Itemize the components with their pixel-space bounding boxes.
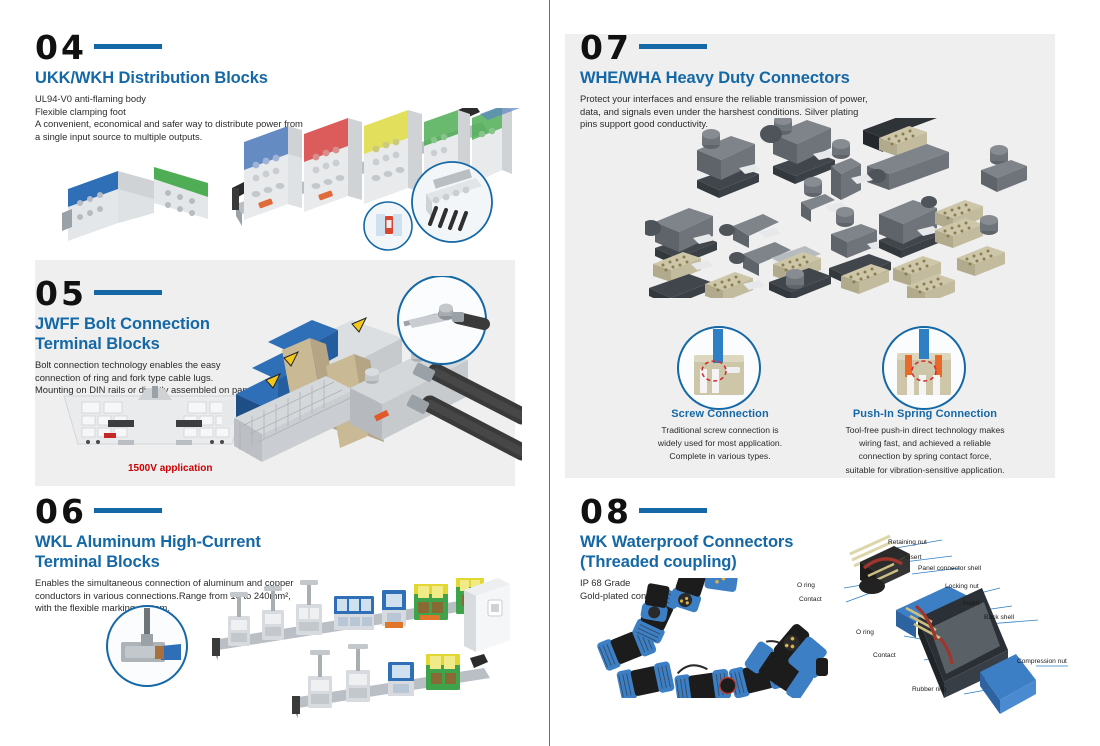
section-08: 08 WK Waterproof Connectors (Threaded co… — [550, 486, 1100, 746]
accent-rule — [639, 44, 707, 49]
catalog-page-spread: 04 UKK/WKH Distribution Blocks UL94-V0 a… — [0, 0, 1100, 746]
section-04: 04 UKK/WKH Distribution Blocks UL94-V0 a… — [0, 0, 549, 258]
caption-title: Push-In Spring Connection — [802, 408, 1048, 420]
section-number: 08 — [580, 495, 632, 528]
callout-label: Contact — [873, 652, 896, 659]
section-07-number-row: 07 — [580, 30, 910, 64]
callout-label: Insert — [905, 554, 922, 561]
jwff-product-image — [222, 276, 522, 476]
wk-exploded-diagram-image — [800, 516, 1100, 716]
accent-rule — [94, 508, 162, 513]
push-in-spring-connection-circle — [881, 325, 967, 411]
section-06-number-row: 06 — [35, 494, 325, 528]
section-number: 06 — [35, 495, 87, 528]
callout-label: Rubber ring — [912, 686, 946, 693]
ukk-wkh-product-image — [230, 108, 530, 258]
callout-label: Panel connector shell — [918, 565, 981, 572]
left-page: 04 UKK/WKH Distribution Blocks UL94-V0 a… — [0, 0, 549, 746]
section-title: WHE/WHA Heavy Duty Connectors — [580, 68, 910, 88]
section-07: 07 WHE/WHA Heavy Duty Connectors Protect… — [550, 0, 1100, 486]
wkl-detail-circle — [105, 604, 189, 688]
section-title: UKK/WKH Distribution Blocks — [35, 68, 335, 88]
callout-label: Insert — [963, 600, 980, 607]
section-07-header: 07 WHE/WHA Heavy Duty Connectors Protect… — [580, 30, 910, 131]
accent-rule — [94, 290, 162, 295]
push-in-spring-caption: Push-In Spring Connection Tool-free push… — [802, 408, 1048, 477]
callout-label: O ring — [856, 629, 874, 636]
section-05: 05 JWFF Bolt Connection Terminal Blocks … — [0, 258, 549, 486]
section-number: 05 — [35, 277, 87, 310]
callout-label: Retaining nut — [888, 539, 927, 546]
callout-label: Locking nut — [945, 583, 979, 590]
section-number: 07 — [580, 31, 632, 64]
section-number: 04 — [35, 31, 87, 64]
voltage-note: 1500V application — [128, 463, 212, 474]
screw-connection-circle — [676, 325, 762, 411]
caption-body: Tool-free push-in direct technology make… — [802, 424, 1048, 477]
section-title: WKL Aluminum High-Current Terminal Block… — [35, 532, 325, 572]
right-page: 07 WHE/WHA Heavy Duty Connectors Protect… — [550, 0, 1100, 746]
callout-label: O ring — [797, 582, 815, 589]
wkl-product-image-bottom — [290, 628, 520, 723]
callout-label: Contact — [799, 596, 822, 603]
callout-label: Back shell — [984, 614, 1014, 621]
section-04-number-row: 04 — [35, 30, 335, 64]
section-06: 06 WKL Aluminum High-Current Terminal Bl… — [0, 486, 549, 746]
callout-label: Compression nut — [1017, 658, 1067, 665]
ukk-wkh-secondary-image — [58, 163, 238, 243]
accent-rule — [639, 508, 707, 513]
accent-rule — [94, 44, 162, 49]
heavy-duty-connector-family-image — [645, 118, 1045, 298]
